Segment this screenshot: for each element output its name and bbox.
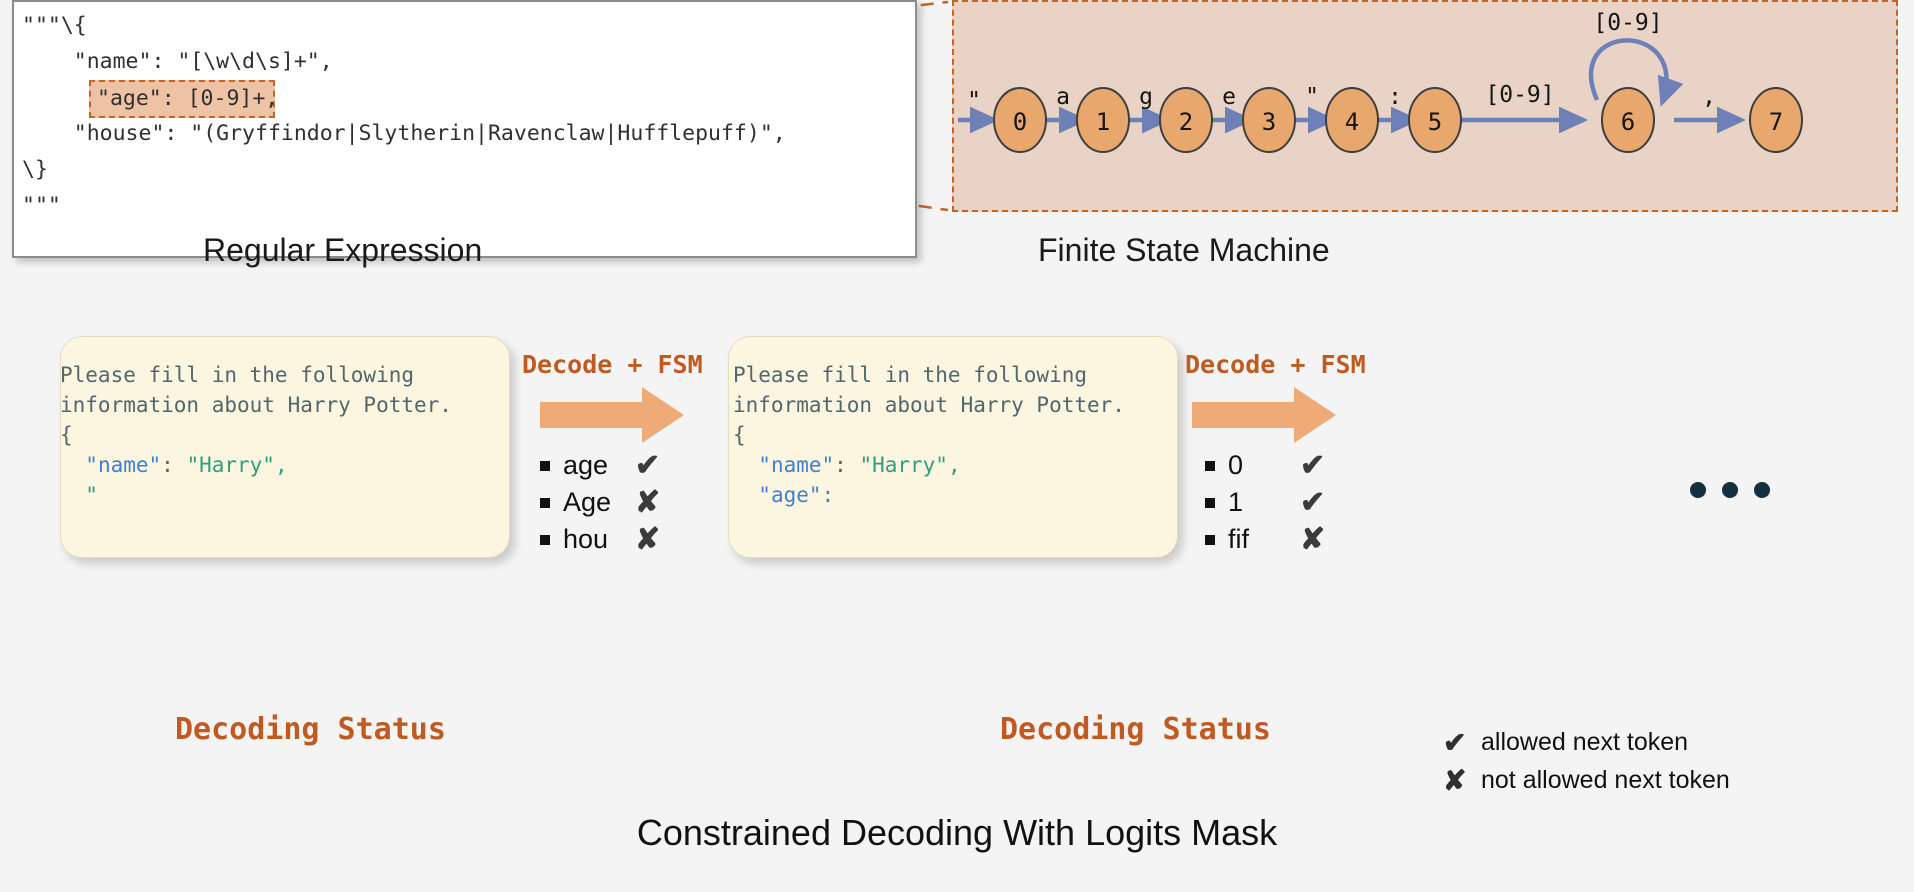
regex-code-line-5: \} [22, 152, 48, 188]
bullet-icon [540, 498, 550, 508]
fsm-edge-label-a: a [1056, 84, 1070, 110]
regex-card: """\{ "name": "[\w\d\s]+", "house": "(Gr… [12, 0, 917, 258]
transition-arrow-step-one [538, 385, 688, 447]
json-value-harry: "Harry", [859, 453, 960, 477]
fsm-edge-label-quote: " [1305, 84, 1319, 110]
token-list-step-one: age ✔ Age ✘ hou ✘ [540, 447, 660, 558]
token-row: 0 ✔ [1205, 447, 1325, 484]
fsm-caption: Finite State Machine [1038, 232, 1330, 269]
bullet-icon [1205, 498, 1215, 508]
bullet-icon [540, 461, 550, 471]
fsm-state-6: 6 [1621, 108, 1635, 136]
fsm-state-3: 3 [1262, 108, 1276, 136]
decoding-status-caption-one: Decoding Status [175, 712, 446, 747]
decoding-text-step-two: Please fill in the following information… [733, 360, 1125, 510]
check-icon: ✔ [1300, 448, 1325, 483]
json-open: { [733, 423, 746, 447]
token-list-step-two: 0 ✔ 1 ✔ fif ✘ [1205, 447, 1325, 558]
check-icon: ✔ [635, 448, 660, 483]
transition-arrow-step-two [1190, 385, 1340, 447]
legend-row-allowed: ✔ allowed next token [1443, 723, 1730, 761]
fsm-edge-label-comma: , [1702, 84, 1716, 110]
token-text: 1 [1228, 487, 1296, 518]
regex-code-line-3-highlighted: "age": [0-9]+, [97, 81, 278, 117]
token-row: 1 ✔ [1205, 484, 1325, 521]
legend-denied-label: not allowed next token [1481, 766, 1730, 795]
cross-icon: ✘ [1300, 522, 1325, 557]
regex-code-line-4: "house": "(Gryffindor|Slytherin|Ravencla… [22, 116, 786, 152]
regex-code-line-6: """ [22, 188, 61, 224]
prompt-line-2: information about Harry Potter. [60, 393, 452, 417]
json-partial-quote: " [85, 483, 98, 507]
cross-icon: ✘ [635, 522, 660, 557]
regex-caption: Regular Expression [203, 232, 482, 269]
bullet-icon [540, 535, 550, 545]
fsm-state-5: 5 [1428, 108, 1442, 136]
json-sep-1: : [834, 453, 859, 477]
token-row: age ✔ [540, 447, 660, 484]
token-text: Age [563, 487, 631, 518]
cross-icon: ✘ [1443, 764, 1481, 797]
figure-title: Constrained Decoding With Logits Mask [0, 812, 1914, 854]
transition-label-step-one: Decode + FSM [522, 350, 703, 379]
regex-code-line-1: """\{ [22, 8, 87, 44]
json-open: { [60, 423, 73, 447]
token-text: fif [1228, 524, 1296, 555]
diagram-stage: """\{ "name": "[\w\d\s]+", "house": "(Gr… [0, 0, 1914, 892]
fsm-edge-label-digit: [0-9] [1485, 82, 1554, 108]
check-icon: ✔ [1300, 485, 1325, 520]
fsm-start-label: " [967, 88, 981, 114]
token-text: age [563, 450, 631, 481]
decoding-text-step-one: Please fill in the following information… [60, 360, 452, 510]
fsm-state-2: 2 [1179, 108, 1193, 136]
transition-label-step-two: Decode + FSM [1185, 350, 1366, 379]
json-key-name: "name" [85, 453, 161, 477]
bullet-icon [1205, 535, 1215, 545]
fsm-state-1: 1 [1096, 108, 1110, 136]
bullet-icon [1205, 461, 1215, 471]
fsm-edge-label-g: g [1139, 84, 1153, 110]
token-row: Age ✘ [540, 484, 660, 521]
legend-row-denied: ✘ not allowed next token [1443, 761, 1730, 799]
fsm-state-4: 4 [1345, 108, 1359, 136]
cross-icon: ✘ [635, 485, 660, 520]
token-text: hou [563, 524, 631, 555]
token-text: 0 [1228, 450, 1296, 481]
fsm-state-0: 0 [1013, 108, 1027, 136]
legend-allowed-label: allowed next token [1481, 728, 1688, 757]
fsm-edge-label-e: e [1222, 84, 1236, 110]
prompt-line-2: information about Harry Potter. [733, 393, 1125, 417]
token-row: hou ✘ [540, 521, 660, 558]
check-icon: ✔ [1443, 726, 1481, 759]
prompt-line-1: Please fill in the following [60, 363, 414, 387]
fsm-graph: 0 1 2 3 4 5 6 7 " a g e " : [0-9] [0-9] … [952, 0, 1898, 212]
fsm-self-loop-label: [0-9] [1593, 10, 1662, 36]
fsm-state-7: 7 [1769, 108, 1783, 136]
token-row: fif ✘ [1205, 521, 1325, 558]
fsm-edge-label-colon: : [1388, 84, 1402, 110]
decoding-status-caption-two: Decoding Status [1000, 712, 1271, 747]
continuation-ellipsis-icon [1690, 482, 1770, 498]
json-value-harry: "Harry", [186, 453, 287, 477]
legend: ✔ allowed next token ✘ not allowed next … [1443, 723, 1730, 799]
json-sep-1: : [161, 453, 186, 477]
json-key-name: "name" [758, 453, 834, 477]
prompt-line-1: Please fill in the following [733, 363, 1087, 387]
regex-code-line-2: "name": "[\w\d\s]+", [22, 44, 333, 80]
json-key-age: "age" [758, 483, 821, 507]
json-sep-2: : [822, 483, 835, 507]
